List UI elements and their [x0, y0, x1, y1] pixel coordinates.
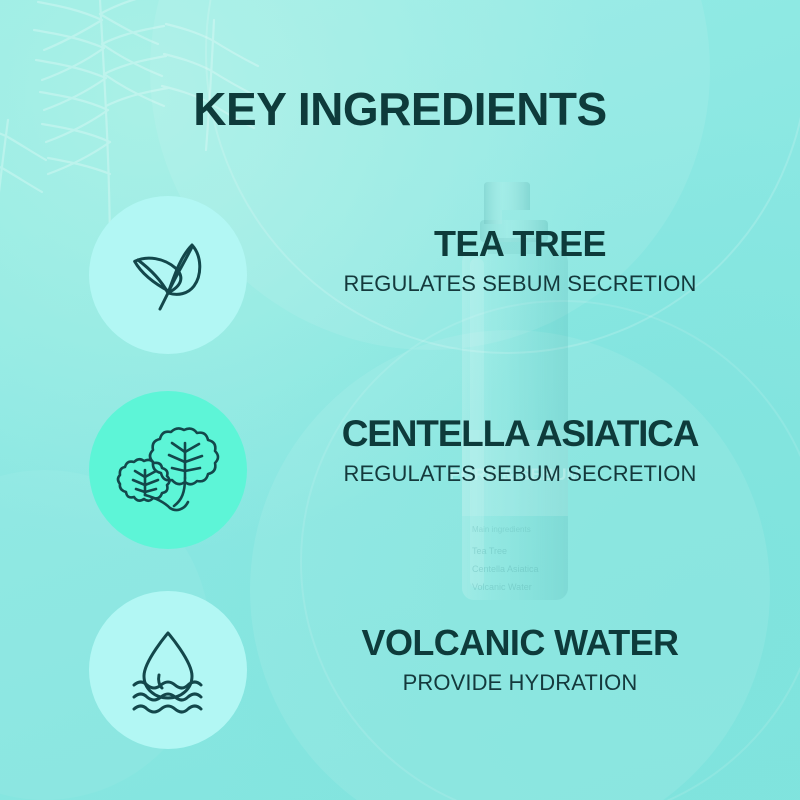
- ingredient-icon-badge-volcanic-water: [89, 591, 247, 749]
- ingredient-icon-badge-centella: [89, 391, 247, 549]
- ingredient-row-centella-asiatica: CENTELLA ASIATICA REGULATES SEBUM SECRET…: [0, 391, 800, 551]
- ingredient-text-tea-tree: TEA TREE REGULATES SEBUM SECRETION: [280, 224, 760, 297]
- water-droplet-waves-icon: [117, 619, 219, 721]
- ingredient-description: REGULATES SEBUM SECRETION: [280, 271, 760, 296]
- two-leaves-icon: [116, 223, 220, 327]
- ingredient-text-volcanic-water: VOLCANIC WATER PROVIDE HYDRATION: [280, 623, 760, 696]
- ingredient-description: PROVIDE HYDRATION: [280, 670, 760, 695]
- ingredient-name: VOLCANIC WATER: [280, 623, 760, 663]
- centella-leaves-icon: [114, 416, 222, 524]
- ingredient-name: CENTELLA ASIATICA: [280, 413, 760, 454]
- ingredient-name: TEA TREE: [280, 224, 760, 264]
- ingredient-row-volcanic-water: VOLCANIC WATER PROVIDE HYDRATION: [0, 591, 800, 751]
- ingredient-description: REGULATES SEBUM SECRETION: [280, 461, 760, 486]
- ingredient-row-tea-tree: TEA TREE REGULATES SEBUM SECRETION: [0, 196, 800, 356]
- key-ingredients-poster: PORE & SEBUM Main ingredients Tea Tree C…: [0, 0, 800, 800]
- ingredient-text-centella: CENTELLA ASIATICA REGULATES SEBUM SECRET…: [280, 413, 760, 487]
- ingredient-icon-badge-tea-tree: [89, 196, 247, 354]
- page-title: KEY INGREDIENTS: [0, 86, 800, 132]
